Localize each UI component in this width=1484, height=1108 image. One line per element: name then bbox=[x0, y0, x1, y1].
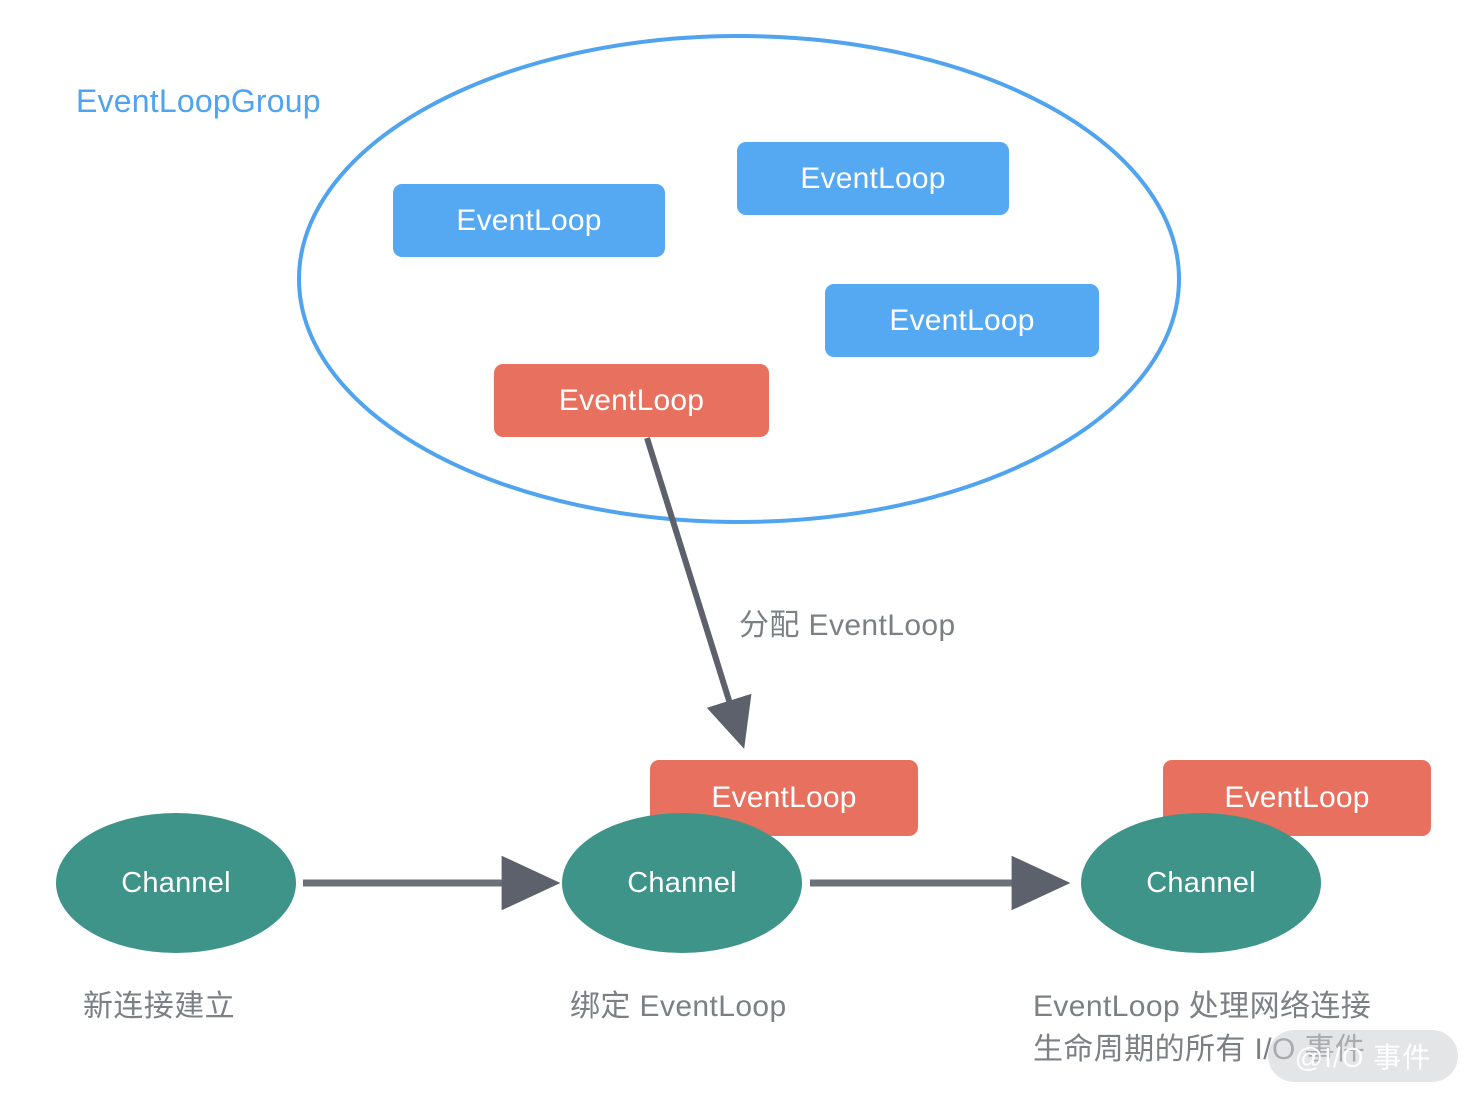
diagram-canvas: EventLoopGroup EventLoop EventLoop Event… bbox=[0, 0, 1484, 1108]
allocation-arrow-label: 分配 EventLoop bbox=[739, 605, 956, 648]
channel-ellipse-3[interactable]: Channel bbox=[1081, 813, 1321, 953]
eventloop-chip-idle-3[interactable]: EventLoop bbox=[825, 284, 1099, 357]
channel-ellipse-2[interactable]: Channel bbox=[562, 813, 802, 953]
step-caption-2: 绑定 EventLoop bbox=[570, 986, 787, 1029]
eventloop-chip-idle-2[interactable]: EventLoop bbox=[737, 142, 1009, 215]
allocation-arrow bbox=[647, 438, 742, 742]
eventloop-chip-active-selected[interactable]: EventLoop bbox=[494, 364, 769, 437]
eventloopgroup-boundary bbox=[299, 36, 1179, 522]
eventloop-chip-idle-1[interactable]: EventLoop bbox=[393, 184, 665, 257]
watermark-badge: @I/O 事件 bbox=[1268, 1030, 1458, 1082]
channel-ellipse-1[interactable]: Channel bbox=[56, 813, 296, 953]
step-caption-1: 新连接建立 bbox=[83, 986, 235, 1029]
eventloopgroup-label: EventLoopGroup bbox=[76, 83, 321, 120]
